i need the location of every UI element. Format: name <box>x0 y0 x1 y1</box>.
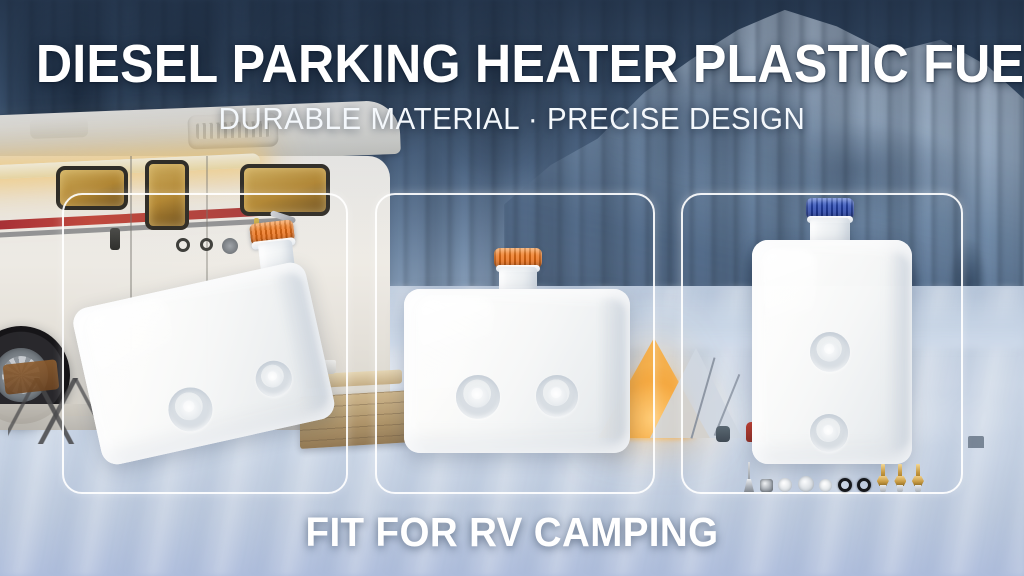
sealing-washer-icon <box>798 476 814 492</box>
tank-dimple <box>536 375 578 417</box>
tank-body <box>70 260 337 468</box>
brass-fitting-icon <box>912 464 924 492</box>
page-title: DIESEL PARKING HEATER PLASTIC FUEL TANK <box>36 36 988 92</box>
tank-body <box>404 289 630 453</box>
accessory-parts-row <box>744 458 924 492</box>
sealing-washer-icon <box>778 478 792 492</box>
fuel-tank-vertical <box>752 204 912 474</box>
fuel-tank-front <box>404 253 630 453</box>
o-ring-icon <box>838 478 852 492</box>
metal-nut-icon <box>760 479 773 492</box>
sealing-washer-icon <box>819 479 832 492</box>
o-ring-icon <box>857 478 871 492</box>
fuel-standpipe-icon <box>744 462 754 492</box>
tank-dimple <box>456 375 500 419</box>
tank-body <box>752 240 912 464</box>
tank-dimple <box>810 414 848 452</box>
subtitle: DURABLE MATERIAL · PRECISE DESIGN <box>26 101 999 137</box>
marketing-banner: DIESEL PARKING HEATER PLASTIC FUEL TANK … <box>0 0 1024 576</box>
footer-tagline: FIT FOR RV CAMPING <box>31 508 994 556</box>
brass-fitting-icon <box>877 464 889 492</box>
tank-dimple <box>164 383 216 435</box>
tank-dimple <box>252 357 295 400</box>
tank-dimple <box>810 332 850 372</box>
brass-fitting-icon <box>894 464 906 492</box>
distant-hut <box>968 436 984 448</box>
